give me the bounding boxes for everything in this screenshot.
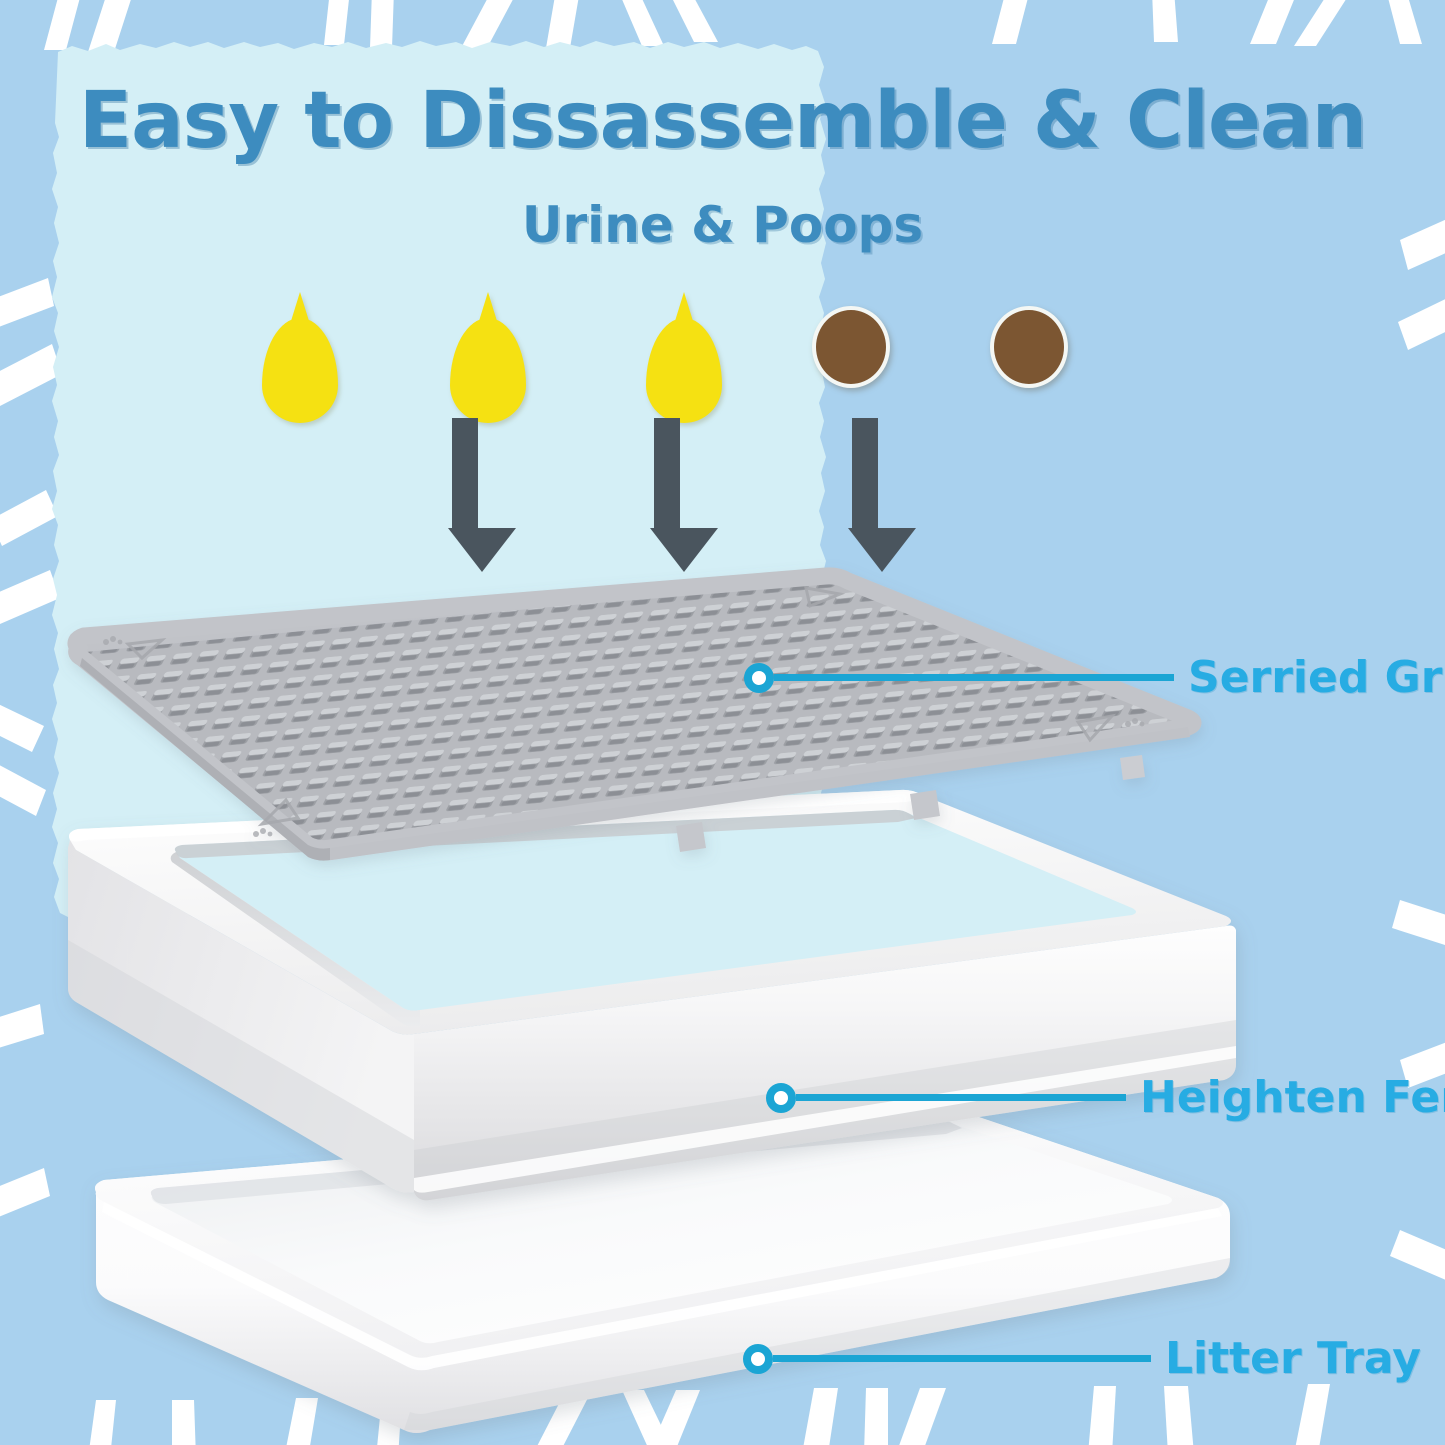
heighten-fence-part (68, 790, 1236, 1200)
callout-leader-line (773, 1355, 1151, 1362)
callout-serried-grid: Serried Grid (744, 652, 1445, 703)
callout-marker-icon (766, 1083, 796, 1113)
callout-label-heighten-fence: Heighten Fence (1140, 1072, 1445, 1123)
urine-drop-icon-1 (262, 318, 338, 423)
poop-icon-1 (812, 306, 890, 388)
callout-label-serried-grid: Serried Grid (1188, 652, 1445, 703)
callout-label-litter-tray: Litter Tray (1165, 1333, 1421, 1384)
callout-marker-icon (743, 1344, 773, 1374)
poster-title: Easy to Dissassemble & Clean (0, 76, 1445, 166)
callout-leader-line (774, 674, 1174, 681)
waste-icon-row (0, 292, 1445, 412)
callout-litter-tray: Litter Tray (743, 1333, 1421, 1384)
callout-heighten-fence: Heighten Fence (766, 1072, 1445, 1123)
urine-drop-icon-2 (450, 318, 526, 423)
callout-marker-icon (744, 663, 774, 693)
callout-leader-line (796, 1094, 1126, 1101)
down-arrow-icon-3 (848, 418, 882, 572)
down-arrow-icon-2 (650, 418, 684, 572)
poster-subtitle: Urine & Poops (0, 196, 1445, 254)
poop-icon-2 (990, 306, 1068, 388)
down-arrow-icon-1 (448, 418, 482, 572)
poster-canvas: Easy to Dissassemble & Clean Urine & Poo… (0, 0, 1445, 1445)
urine-drop-icon-3 (646, 318, 722, 423)
